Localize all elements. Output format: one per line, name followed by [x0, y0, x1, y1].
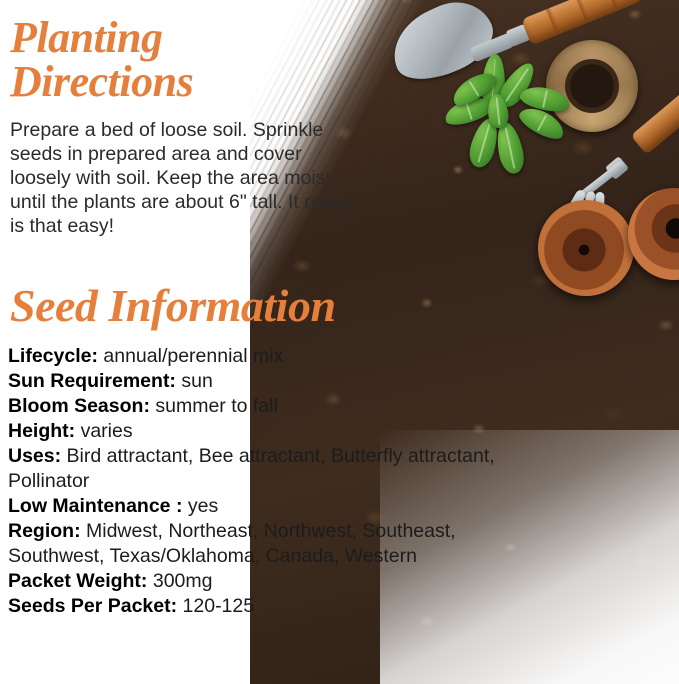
seed-info-key: Low Maintenance :	[8, 495, 182, 517]
list-item: Low Maintenance : yes	[8, 494, 553, 519]
seed-info-value: Bird attractant, Bee attractant, Butterf…	[8, 445, 495, 492]
planting-directions-body-text: Prepare a bed of loose soil. Sprinkle se…	[10, 119, 355, 239]
planting-directions-heading: Planting Directions	[10, 16, 310, 104]
list-item: Region: Midwest, Northeast, Northwest, S…	[8, 519, 553, 569]
seed-info-value: annual/perennial mix	[103, 345, 283, 367]
seed-info-value: 300mg	[153, 570, 213, 592]
list-item: Uses: Bird attractant, Bee attractant, B…	[8, 444, 553, 494]
seed-information-list: Lifecycle: annual/perennial mix Sun Requ…	[8, 344, 553, 620]
seed-info-value: sun	[181, 370, 212, 392]
seed-info-key: Region:	[8, 520, 81, 542]
list-item: Packet Weight: 300mg	[8, 569, 553, 594]
seed-info-key: Sun Requirement:	[8, 370, 176, 392]
list-item: Lifecycle: annual/perennial mix	[8, 344, 553, 369]
packet-text-content: Planting Directions Prepare a bed of loo…	[0, 0, 679, 684]
seed-info-key: Bloom Season:	[8, 395, 150, 417]
seed-info-key: Seeds Per Packet:	[8, 595, 177, 617]
list-item: Seeds Per Packet: 120-125	[8, 594, 553, 619]
seed-info-key: Packet Weight:	[8, 570, 147, 592]
seed-information-heading: Seed Information	[10, 283, 430, 329]
seed-info-value: varies	[81, 420, 133, 442]
list-item: Height: varies	[8, 419, 553, 444]
seed-info-value: 120-125	[183, 595, 255, 617]
seed-packet-back-panel: Planting Directions Prepare a bed of loo…	[0, 0, 679, 684]
seed-info-key: Lifecycle:	[8, 345, 98, 367]
seed-info-value: summer to fall	[155, 395, 277, 417]
seed-info-key: Height:	[8, 420, 75, 442]
list-item: Bloom Season: summer to fall	[8, 394, 553, 419]
seed-info-key: Uses:	[8, 445, 61, 467]
seed-info-value: yes	[188, 495, 218, 517]
list-item: Sun Requirement: sun	[8, 369, 553, 394]
